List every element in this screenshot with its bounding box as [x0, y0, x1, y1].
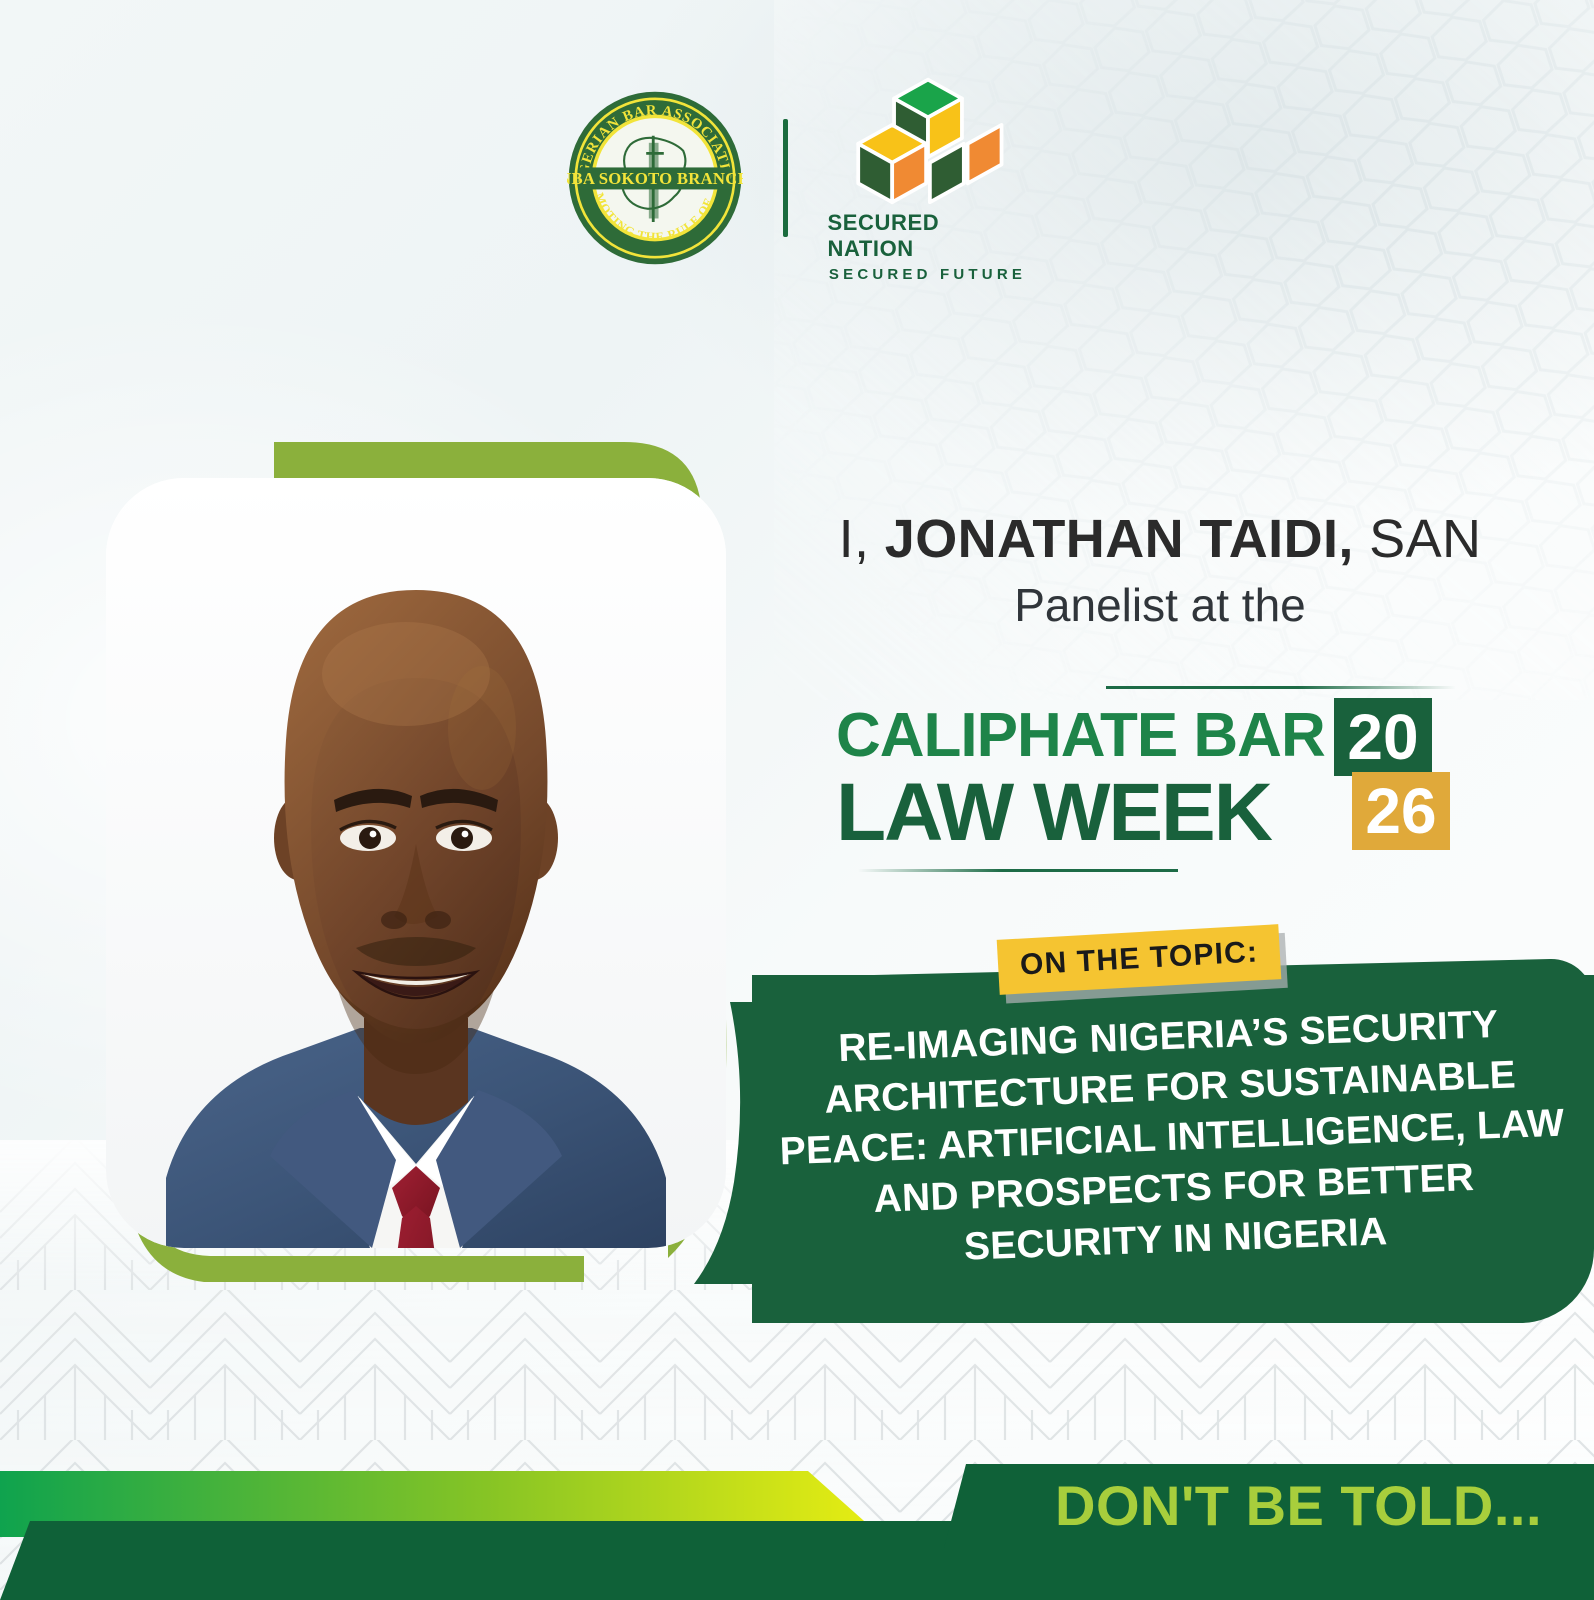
footer-tagline: DON'T BE TOLD... — [1055, 1473, 1542, 1538]
speaker-photo-image — [106, 478, 726, 1248]
secured-nation-title: SECURED NATION — [828, 210, 1028, 262]
event-year-first: 20 — [1334, 698, 1432, 776]
logo-divider — [783, 119, 788, 237]
nba-sokoto-seal-icon: NIGERIAN BAR ASSOCIATION NBA SOKOTO BRAN… — [567, 90, 743, 266]
topic-text: RE-IMAGING NIGERIA’S SECURITY ARCHITECTU… — [768, 997, 1577, 1280]
event-title-line2: LAW WEEK — [836, 766, 1271, 860]
secured-nation-logo: SECURED NATION SECURED FUTURE — [828, 74, 1028, 283]
speaker-suffix: SAN — [1354, 509, 1482, 569]
event-title-line1: CALIPHATE BAR — [836, 700, 1325, 771]
secured-nation-subtitle: SECURED FUTURE — [829, 266, 1026, 283]
event-title-lockup: CALIPHATE BAR LAW WEEK 20 26 — [836, 686, 1456, 866]
event-year-second: 26 — [1352, 772, 1450, 850]
event-rule-bottom — [858, 869, 1178, 872]
speaker-role: Panelist at the — [760, 578, 1560, 632]
event-rule-top — [1106, 686, 1456, 689]
speaker-name: JONATHAN TAIDI, — [885, 509, 1354, 569]
speaker-name-line: I, JONATHAN TAIDI, SAN — [760, 508, 1560, 570]
header-logos: NIGERIAN BAR ASSOCIATION NBA SOKOTO BRAN… — [0, 88, 1594, 268]
svg-text:NBA SOKOTO BRANCH: NBA SOKOTO BRANCH — [567, 169, 743, 188]
secured-nation-cubes-icon — [843, 74, 1013, 206]
poster-canvas: NIGERIAN BAR ASSOCIATION NBA SOKOTO BRAN… — [0, 0, 1594, 1600]
speaker-photo — [106, 478, 726, 1248]
portrait-block — [24, 404, 754, 1284]
speaker-prefix: I, — [839, 509, 885, 569]
